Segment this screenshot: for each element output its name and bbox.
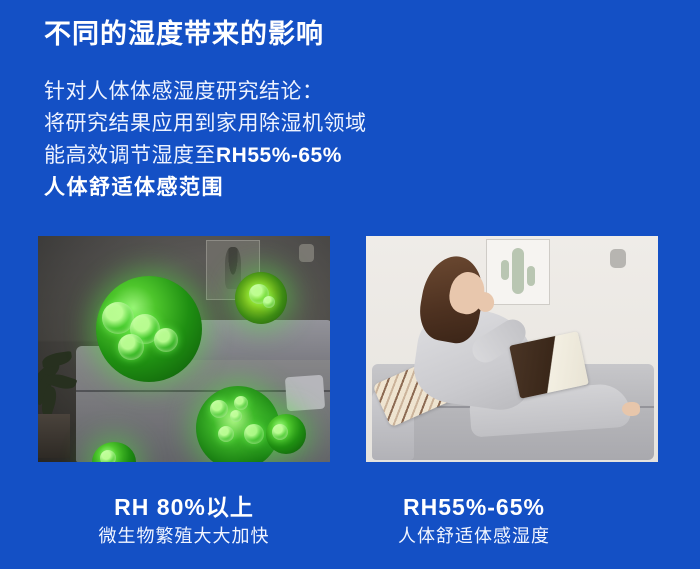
cactus-icon: [512, 248, 524, 294]
comparison-panels: [38, 236, 662, 462]
wall-speaker-icon: [299, 244, 314, 262]
caption-right-sub: 人体舒适体感湿度: [328, 522, 620, 550]
intro-line-1: 针对人体体感湿度研究结论：: [44, 76, 367, 108]
panel-high-humidity-photo: [38, 236, 330, 462]
microbe-cluster-large: [96, 276, 202, 382]
intro-line-3-prefix: 能高效调节湿度至: [44, 144, 216, 167]
intro-line-4: 人体舒适体感范围: [44, 172, 367, 204]
caption-left-sub: 微生物繁殖大大加快: [38, 522, 330, 550]
caption-left: RH 80%以上 微生物繁殖大大加快: [38, 492, 330, 550]
cactus-art-frame-icon: [486, 239, 550, 305]
microbe-small-top-right: [235, 272, 287, 324]
humidity-range-highlight: RH55%-65%: [216, 144, 342, 167]
wall-speaker-icon: [610, 249, 626, 268]
caption-right: RH55%-65% 人体舒适体感湿度: [328, 492, 620, 550]
panel-comfort-humidity-photo: [366, 236, 658, 462]
microbe-bottom-right: [266, 414, 306, 454]
intro-line-3: 能高效调节湿度至RH55%-65%: [44, 140, 367, 172]
person-foot-shape: [622, 402, 640, 416]
intro-paragraph: 针对人体体感湿度研究结论： 将研究结果应用到家用除湿机领域 能高效调节湿度至RH…: [44, 76, 367, 204]
panel-captions: RH 80%以上 微生物繁殖大大加快 RH55%-65% 人体舒适体感湿度: [0, 492, 700, 564]
intro-line-2: 将研究结果应用到家用除湿机领域: [44, 108, 367, 140]
humidity-infographic-poster: 不同的湿度带来的影响 针对人体体感湿度研究结论： 将研究结果应用到家用除湿机领域…: [0, 0, 700, 569]
page-title: 不同的湿度带来的影响: [44, 18, 324, 50]
caption-left-main: RH 80%以上: [38, 492, 330, 522]
cushion-shape: [285, 375, 325, 412]
potted-plant-icon: [38, 338, 80, 458]
caption-right-main: RH55%-65%: [328, 492, 620, 522]
